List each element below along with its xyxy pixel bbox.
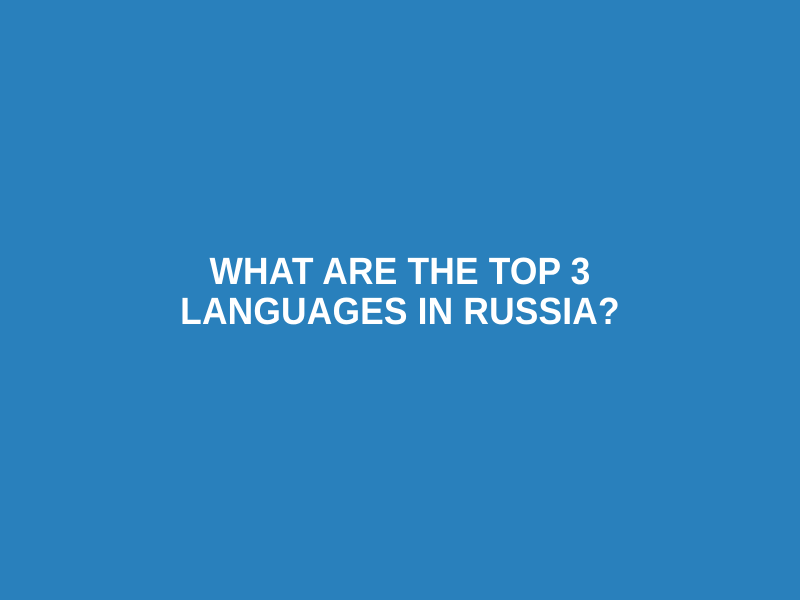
page-title: What are the top 3 languages in Russia?: [112, 252, 689, 332]
title-block: What are the top 3 languages in Russia?: [0, 252, 800, 332]
hero-card: What are the top 3 languages in Russia?: [0, 0, 800, 600]
